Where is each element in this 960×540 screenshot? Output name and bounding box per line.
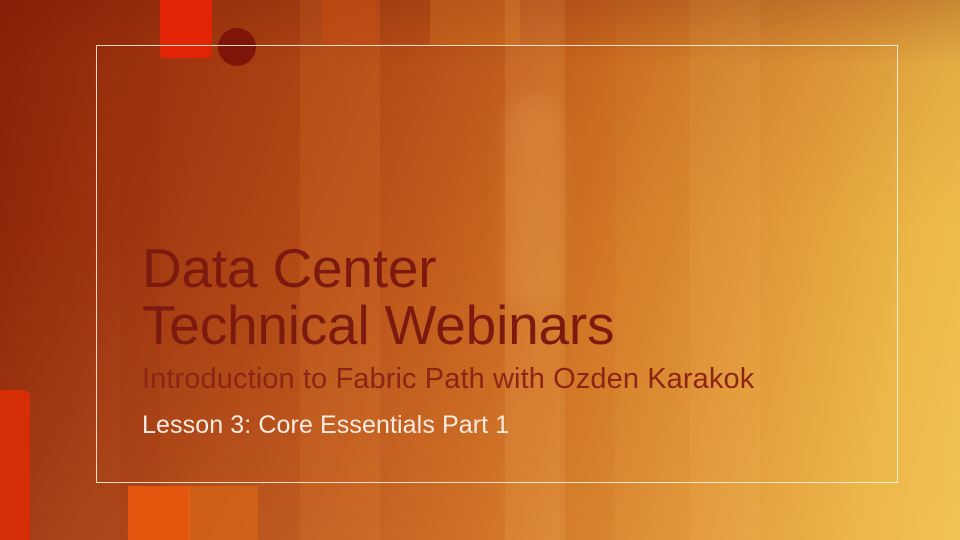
slide-subtitle: Introduction to Fabric Path with Ozden K… (142, 362, 862, 396)
decor-left-red-bar (0, 390, 30, 540)
title-slide: Data Center Technical Webinars Introduct… (0, 0, 960, 540)
decor-red-stripe-fade (160, 44, 212, 54)
slide-title-line-2: Technical Webinars (142, 297, 862, 354)
slide-lesson-label: Lesson 3: Core Essentials Part 1 (142, 410, 862, 440)
title-text-block: Data Center Technical Webinars Introduct… (142, 240, 862, 440)
slide-title-line-1: Data Center (142, 240, 862, 297)
decor-bottom-orange-soft-block (188, 486, 258, 540)
decor-dark-circle (218, 28, 256, 66)
decor-top-soft-block (430, 0, 520, 46)
decor-bottom-orange-block (128, 486, 190, 540)
decor-top-column (322, 0, 376, 46)
